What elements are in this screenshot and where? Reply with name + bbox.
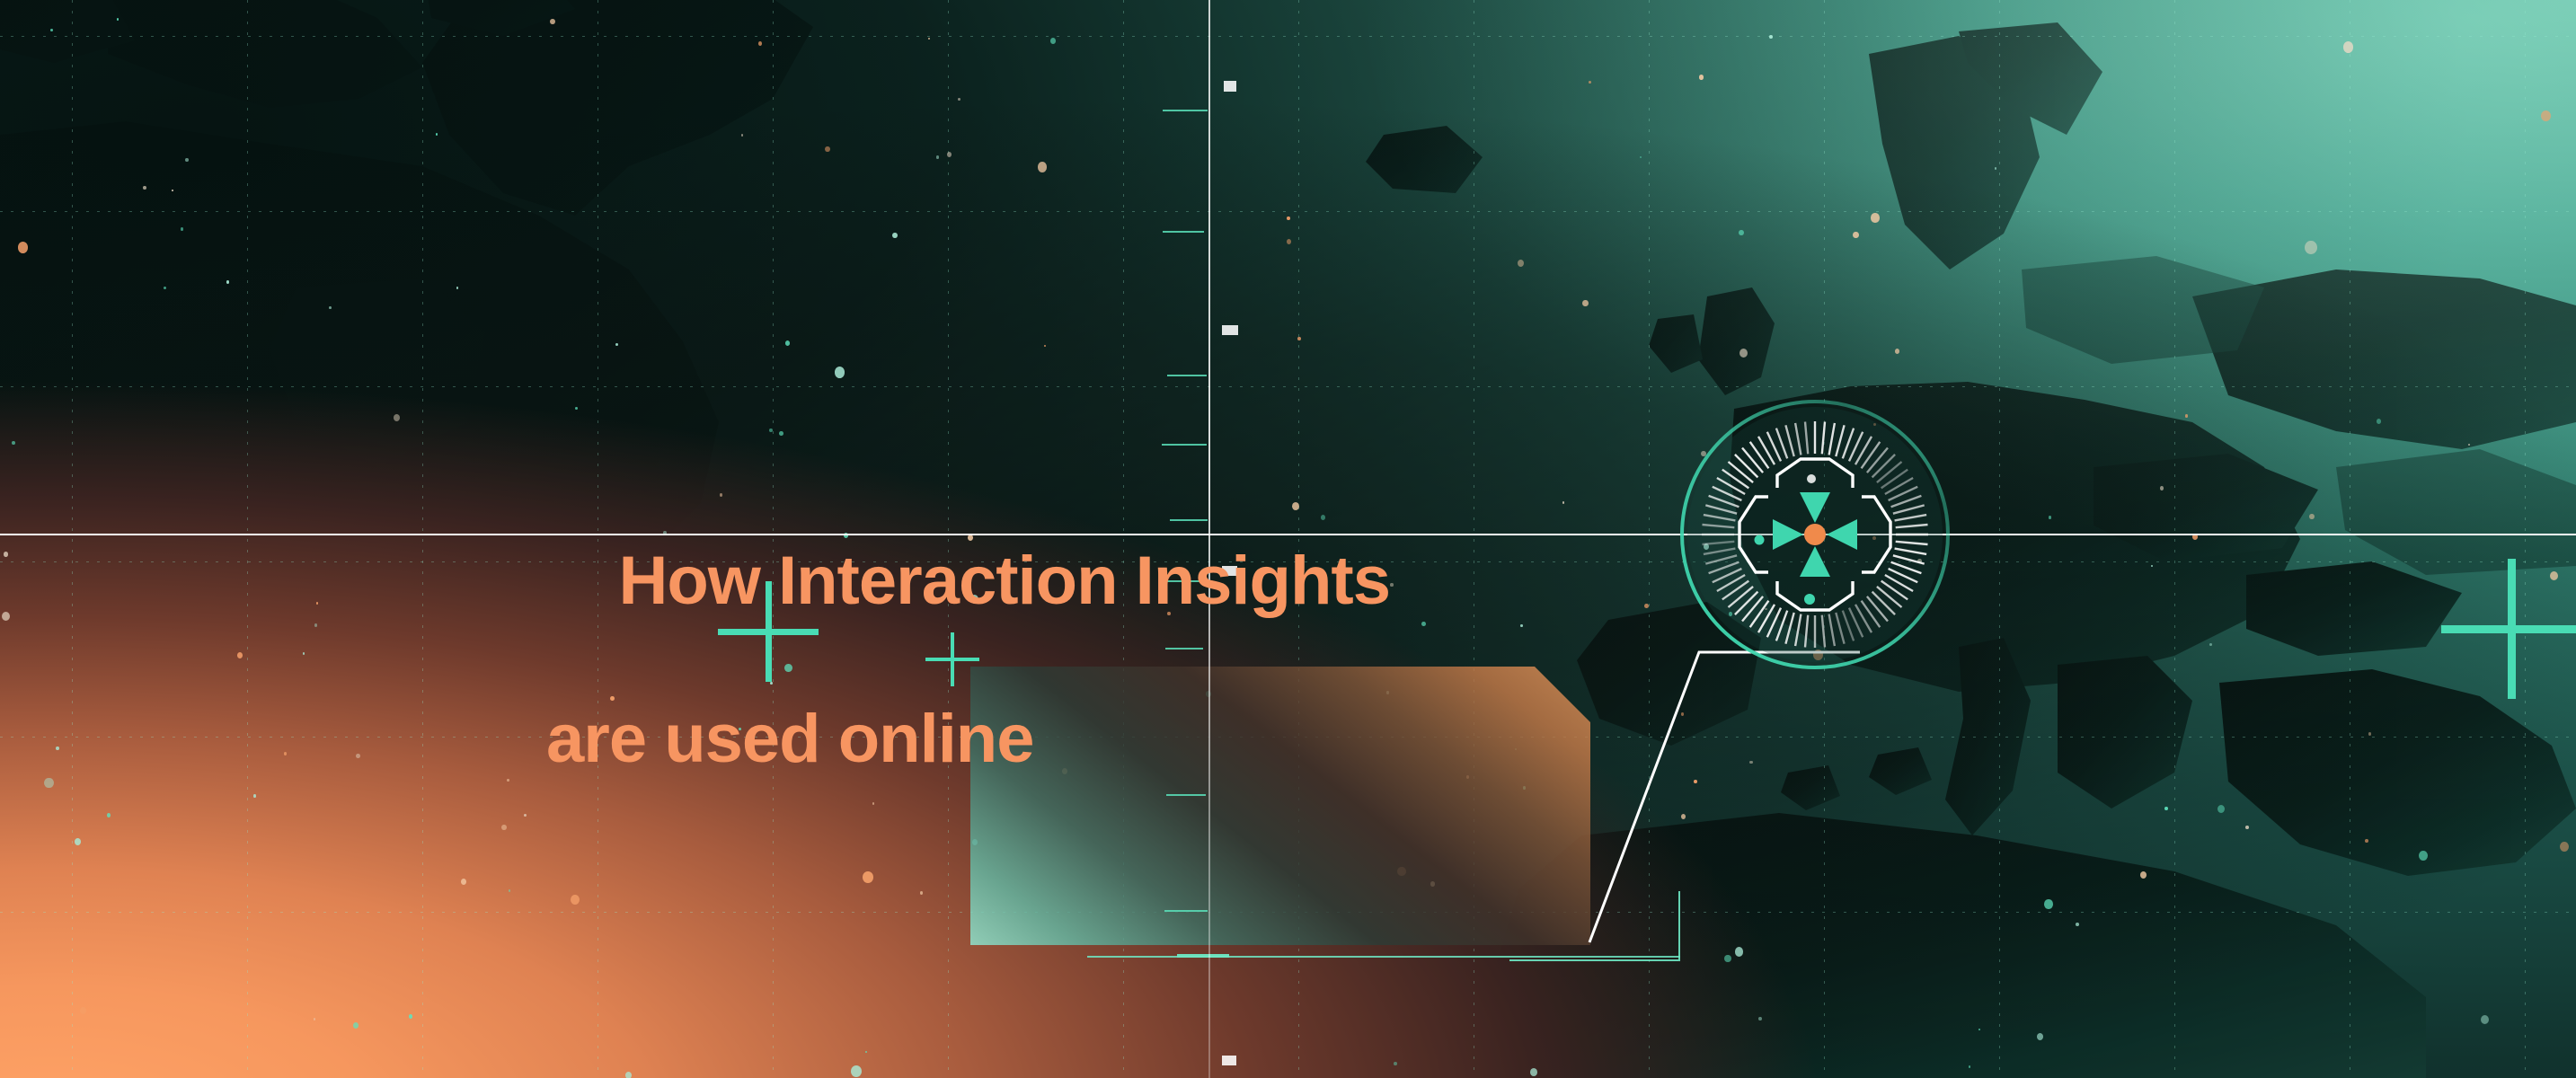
title-line-2: are used online [546,700,1390,779]
page-title: How Interaction Insights are used online [546,463,1390,937]
hero-banner: How Interaction Insights are used online [0,0,2576,1078]
title-line-1: How Interaction Insights [618,543,1390,619]
crosshair-right [2441,559,2576,699]
crosshair-vertical-bar [2508,559,2516,699]
